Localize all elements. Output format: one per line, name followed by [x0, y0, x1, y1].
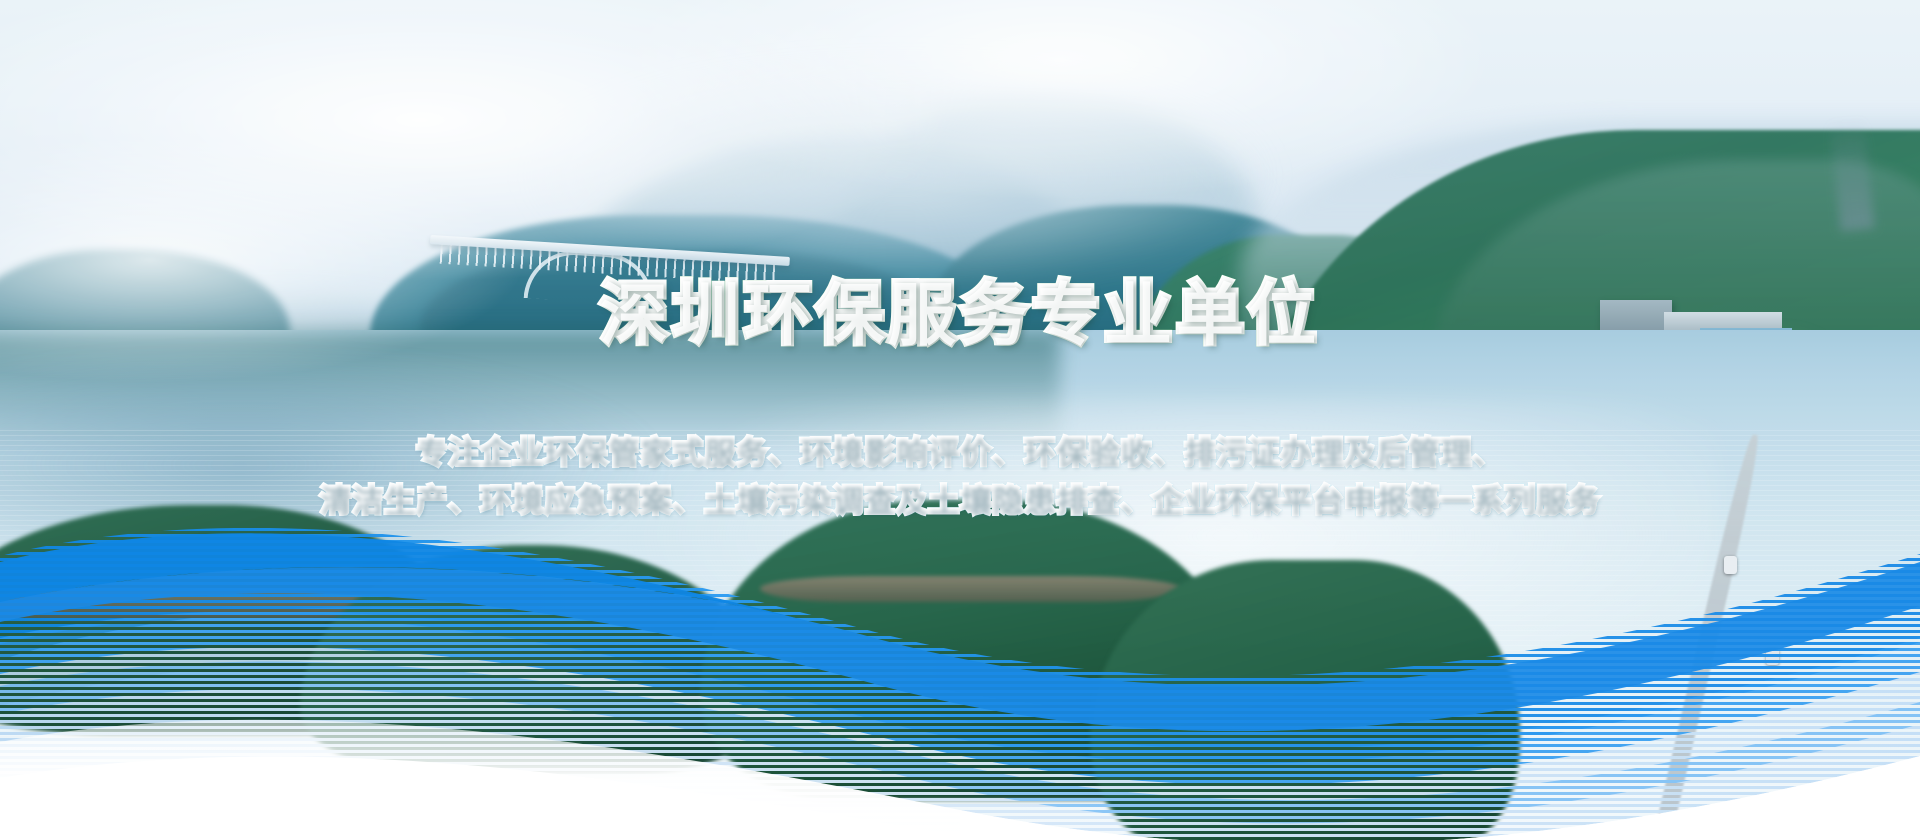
hero-banner: 深圳环保服务专业单位 专注企业环保管家式服务、环境影响评价、环保验收、排污证办理…: [0, 0, 1920, 840]
bottom-wave-decoration: [0, 510, 1920, 840]
